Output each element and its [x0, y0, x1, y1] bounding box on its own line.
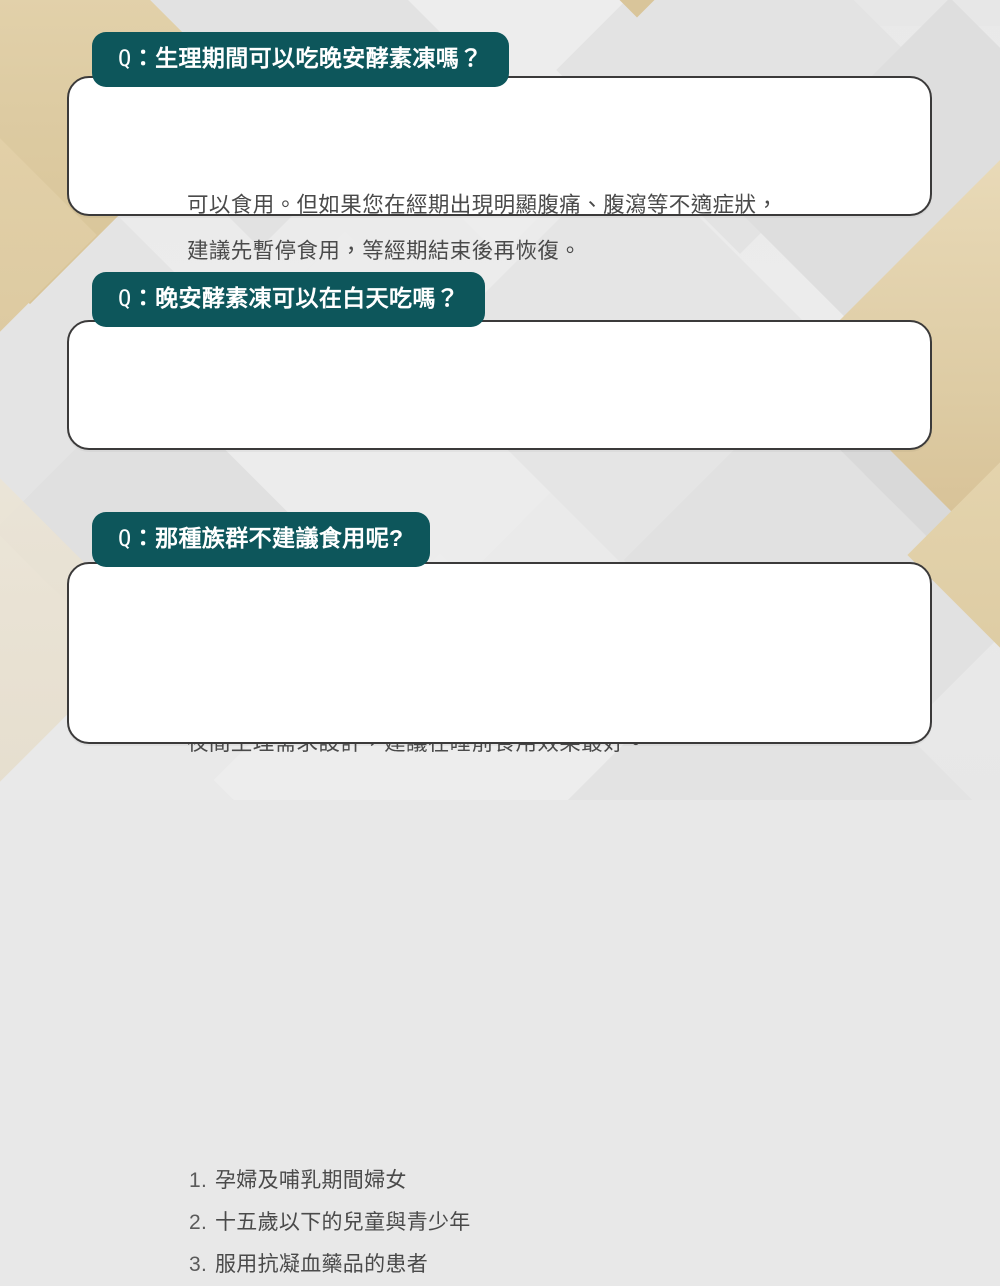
faq-question-pill[interactable]: Q：生理期間可以吃晚安酵素凍嗎？ [92, 32, 509, 87]
faq-question-text: 生理期間可以吃晚安酵素凍嗎？ [155, 45, 483, 71]
faq-answer-card: 可以食用。但如果您在經期出現明顯腹痛、腹瀉等不適症狀， 建議先暫停食用，等經期結… [67, 76, 932, 216]
list-item: 3.服用抗凝血藥品的患者 [189, 1244, 471, 1286]
faq-list: 可以食用。但如果您在經期出現明顯腹痛、腹瀉等不適症狀， 建議先暫停食用，等經期結… [0, 0, 1000, 800]
faq-question-text: 晚安酵素凍可以在白天吃嗎？ [155, 285, 459, 311]
faq-question-pill[interactable]: Q：晚安酵素凍可以在白天吃嗎？ [92, 272, 485, 327]
faq-answer-card: 1.孕婦及哺乳期間婦女 2.十五歲以下的兒童與青少年 3.服用抗凝血藥品的患者 [67, 562, 932, 744]
faq-answer-card: 不建議。由於晚安酵素凍含有輔助入睡的成分，其配方專為 夜間生理需求設計，建議在睡… [67, 320, 932, 450]
faq-answer-line: 可以食用。但如果您在經期出現明顯腹痛、腹瀉等不適症狀， [187, 182, 778, 228]
faq-question-text: 那種族群不建議食用呢? [155, 525, 403, 551]
list-item-number: 2. [189, 1202, 215, 1244]
list-item-number: 1. [189, 1160, 215, 1202]
faq-question-separator: ： [132, 45, 155, 71]
list-item-label: 孕婦及哺乳期間婦女 [215, 1169, 407, 1192]
faq-question-separator: ： [132, 285, 155, 311]
list-item-number: 3. [189, 1244, 215, 1286]
faq-question-prefix: Q [118, 287, 132, 312]
faq-question-pill[interactable]: Q：那種族群不建議食用呢? [92, 512, 430, 567]
faq-question-prefix: Q [118, 527, 132, 552]
list-item-label: 十五歲以下的兒童與青少年 [215, 1211, 471, 1234]
list-item: 1.孕婦及哺乳期間婦女 [189, 1160, 471, 1202]
faq-question-prefix: Q [118, 47, 132, 72]
faq-answer-ordered-list: 1.孕婦及哺乳期間婦女 2.十五歲以下的兒童與青少年 3.服用抗凝血藥品的患者 [189, 1160, 471, 1286]
faq-question-separator: ： [132, 525, 155, 551]
faq-answer-line: 建議先暫停食用，等經期結束後再恢復。 [187, 228, 581, 274]
list-item-label: 服用抗凝血藥品的患者 [215, 1253, 428, 1276]
list-item: 2.十五歲以下的兒童與青少年 [189, 1202, 471, 1244]
